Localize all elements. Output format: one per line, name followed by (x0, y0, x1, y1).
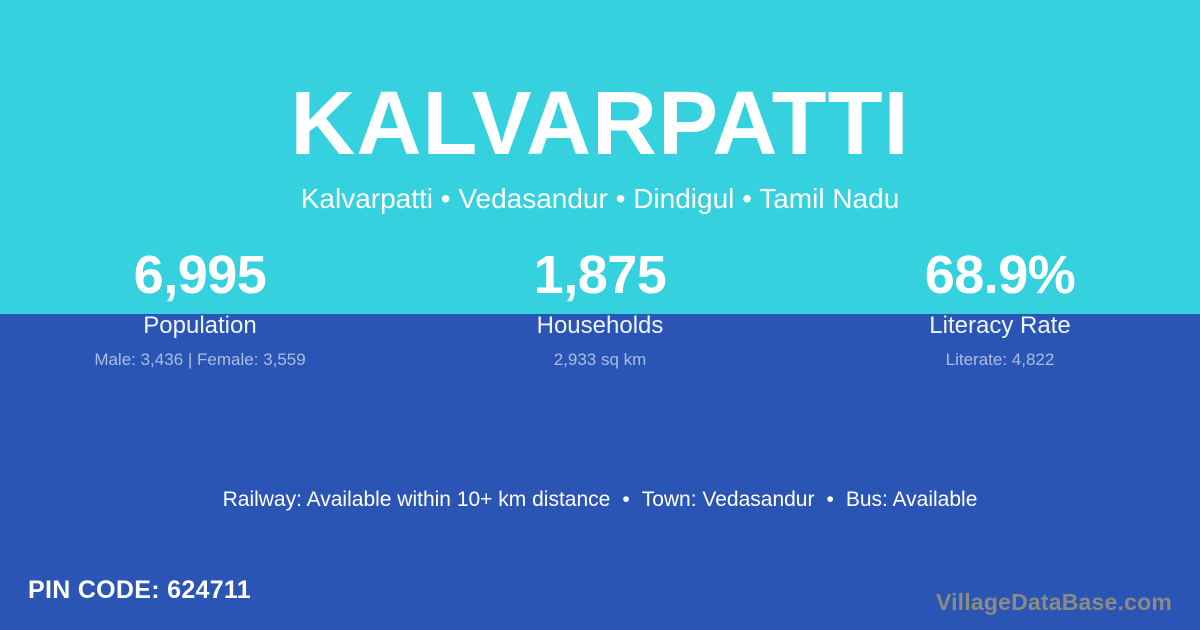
stat-households: 1,875 Households 2,933 sq km (400, 244, 800, 370)
pin-code: PIN CODE: 624711 (28, 575, 251, 605)
stat-population: 6,995 Population Male: 3,436 | Female: 3… (0, 244, 400, 370)
stat-value-population: 6,995 (0, 244, 400, 306)
stat-label-literacy-rate: Literacy Rate (800, 312, 1200, 340)
bullet-separator-icon: • (610, 486, 641, 513)
stat-label-population: Population (0, 312, 400, 340)
bullet-separator-icon: • (814, 486, 845, 513)
page-title: KALVARPATTI (0, 78, 1200, 170)
amenity-town: Town: Vedasandur (642, 488, 815, 511)
location-breadcrumb: Kalvarpatti • Vedasandur • Dindigul • Ta… (0, 182, 1200, 216)
amenity-railway: Railway: Available within 10+ km distanc… (223, 488, 611, 511)
stat-label-households: Households (400, 312, 800, 340)
stat-sub-population: Male: 3,436 | Female: 3,559 (0, 349, 400, 370)
stats-row: 6,995 Population Male: 3,436 | Female: 3… (0, 244, 1200, 370)
amenity-bus: Bus: Available (846, 488, 978, 511)
stat-sub-households: 2,933 sq km (400, 349, 800, 370)
site-branding: VillageDataBase.com (936, 588, 1172, 616)
stat-value-literacy-rate: 68.9% (800, 244, 1200, 306)
stat-literacy-rate: 68.9% Literacy Rate Literate: 4,822 (800, 244, 1200, 370)
stat-value-households: 1,875 (400, 244, 800, 306)
stat-sub-literacy-rate: Literate: 4,822 (800, 349, 1200, 370)
amenities-row: Railway: Available within 10+ km distanc… (0, 486, 1200, 513)
village-info-card: KALVARPATTI Kalvarpatti • Vedasandur • D… (0, 0, 1200, 630)
